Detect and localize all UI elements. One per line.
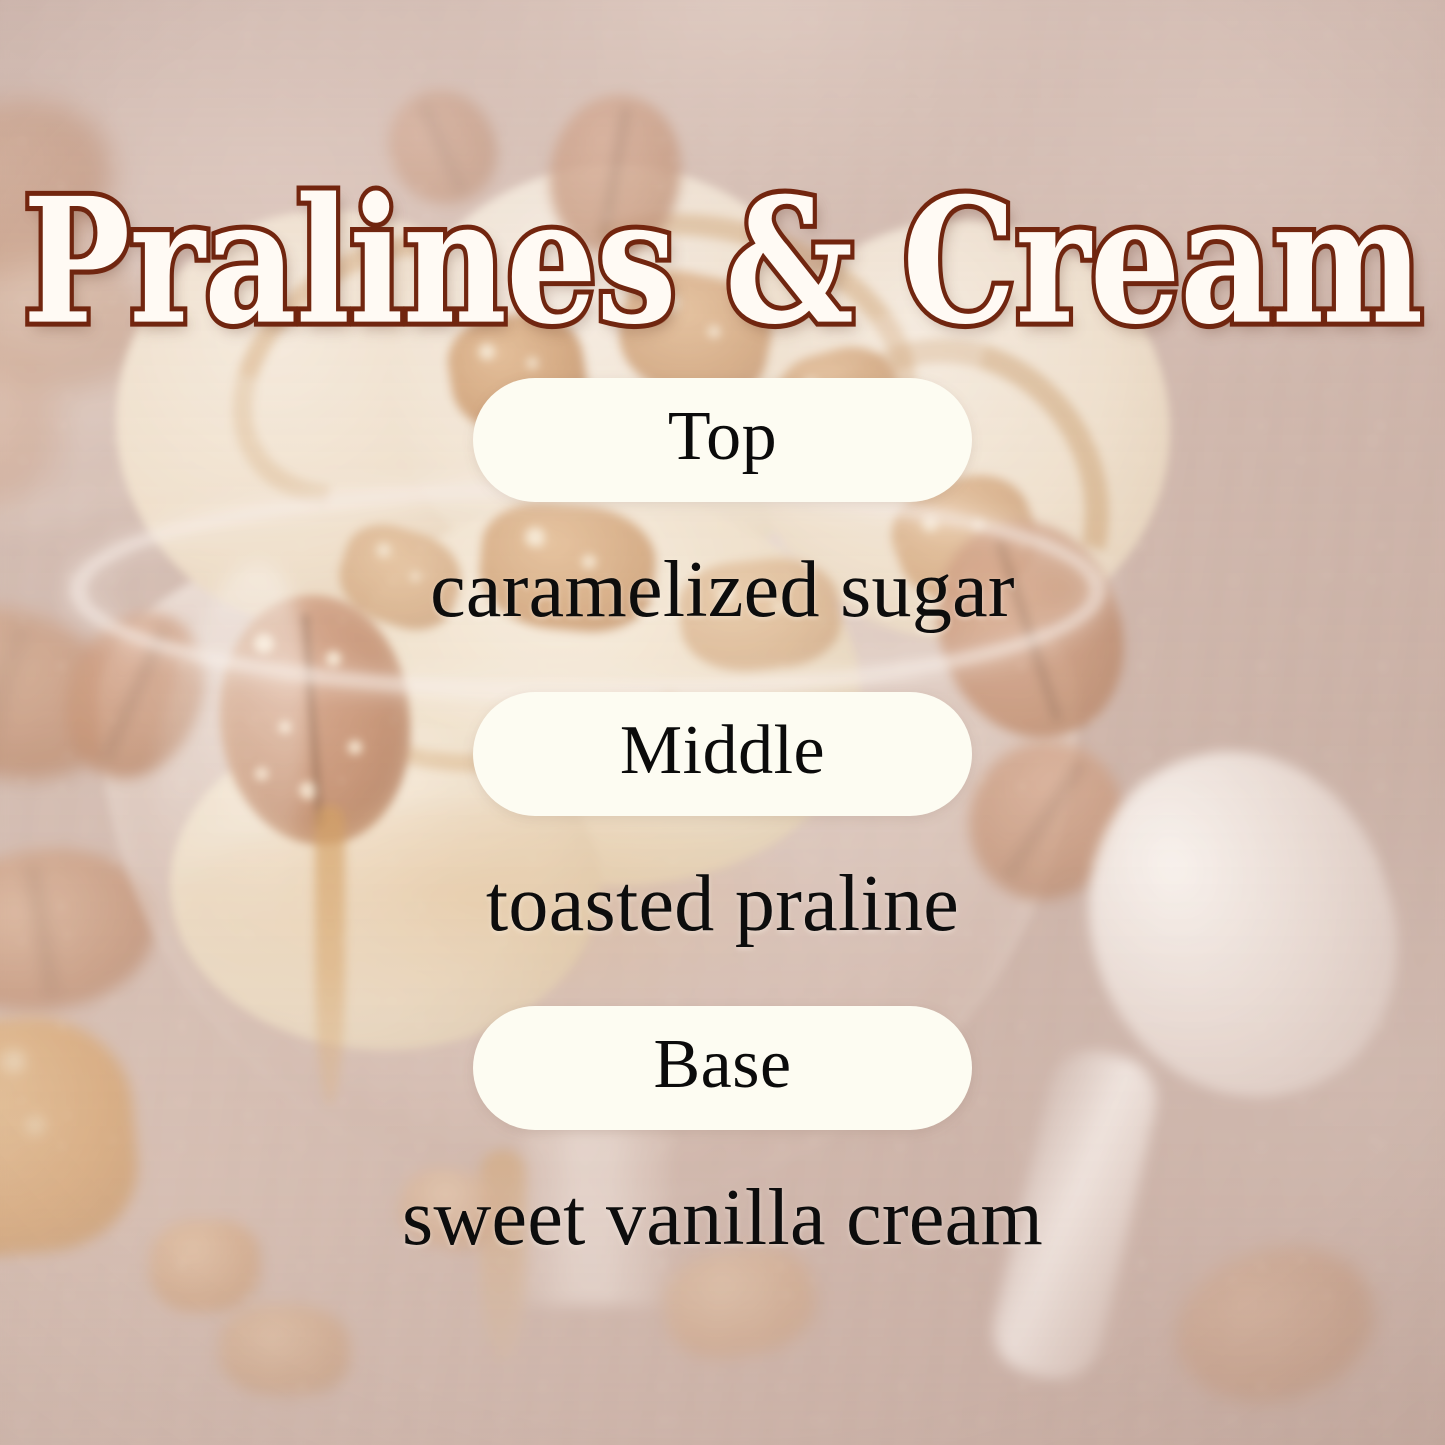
note-pill-top-label: Top [668, 402, 777, 472]
note-description-top: caramelized sugar [430, 550, 1015, 630]
note-pill-base-label: Base [653, 1030, 791, 1100]
page-title: Pralines & Cream [23, 176, 1423, 348]
note-pill-middle-label: Middle [620, 716, 825, 786]
fragrance-note-poster: Pralines & Cream Top caramelized sugar M… [0, 0, 1445, 1445]
fragrance-notes-list: Top caramelized sugar Middle toasted pra… [0, 378, 1445, 1258]
note-description-middle: toasted praline [486, 864, 959, 944]
note-description-base: sweet vanilla cream [402, 1178, 1043, 1258]
note-pill-middle: Middle [473, 692, 972, 816]
note-pill-top: Top [473, 378, 972, 502]
poster-content: Pralines & Cream Top caramelized sugar M… [0, 0, 1445, 1445]
note-pill-base: Base [473, 1006, 972, 1130]
